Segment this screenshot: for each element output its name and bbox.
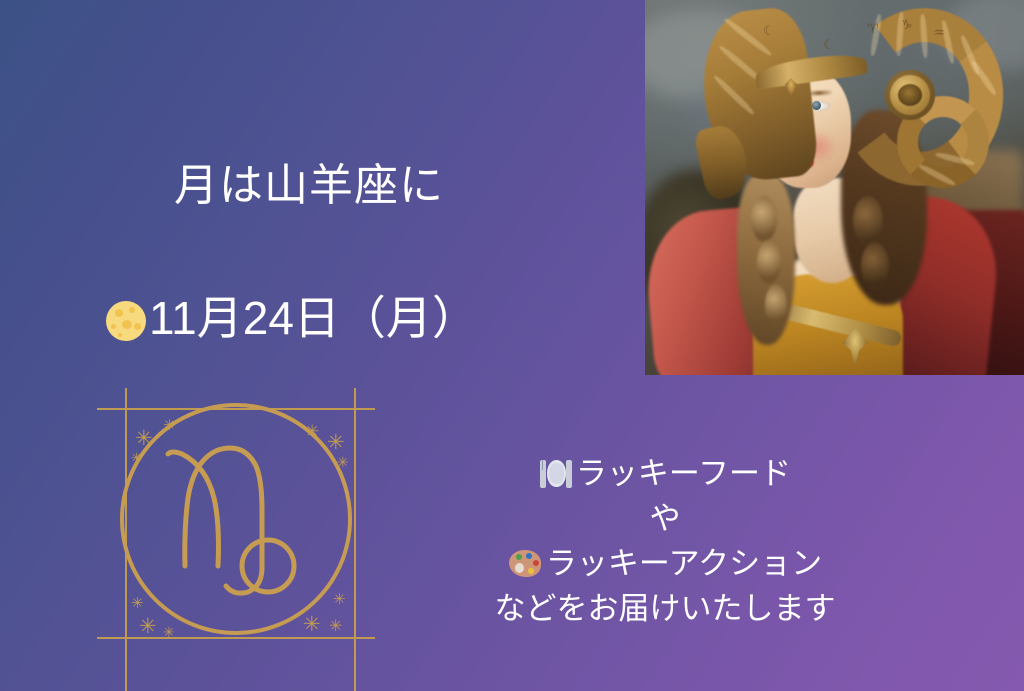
artwork-image: ☾ ☾ ♈ ♑ ♒	[645, 0, 1024, 375]
fork-shape	[540, 460, 546, 488]
painting-medallion	[885, 70, 935, 120]
poster-canvas: ☾ ☾ ♈ ♑ ♒ 月は山羊座に 11月24日（月） ✳ ✳ ✳ ✳ ✳ ✳ ✳	[0, 0, 1024, 691]
zodiac-emblem: ✳ ✳ ✳ ✳ ✳ ✳ ✳ ✳ ✳ ✳ ✳ ✳	[97, 388, 375, 691]
painting-hair-curl	[757, 240, 781, 284]
sparkle-icon: ✳	[163, 418, 176, 433]
painting-hair-curl	[751, 196, 777, 242]
lucky-conjunction: や	[455, 497, 875, 542]
painting-hair-curl	[765, 284, 787, 326]
capricorn-symbol-icon	[152, 436, 320, 604]
sparkle-icon: ✳	[337, 456, 349, 470]
lucky-food-row: ラッキーフード	[455, 452, 875, 497]
sparkle-icon: ✳	[329, 618, 342, 634]
sparkle-icon: ✳	[135, 428, 153, 449]
date-text: 11月24日（月）	[149, 291, 478, 346]
lucky-food-label: ラッキーフード	[576, 452, 791, 497]
date-line: 11月24日（月）	[103, 291, 478, 346]
emblem-frame-line-right	[354, 388, 356, 691]
knife-shape	[566, 460, 572, 488]
plate-with-cutlery-icon	[539, 458, 573, 490]
painting-hair-curl	[861, 242, 889, 290]
painting-iris-right	[812, 101, 821, 110]
lucky-action-label: ラッキーアクション	[546, 542, 822, 587]
lucky-closing-label: などをお届けいたします	[455, 587, 875, 632]
painting-horn-glyph: ☾	[763, 24, 775, 39]
sparkle-icon: ✳	[131, 452, 142, 465]
painting-horn-glyph: ♒	[933, 26, 945, 41]
lucky-info-block: ラッキーフード や ラッキーアクション などをお届けいたします	[455, 452, 875, 632]
dish-shape	[547, 460, 566, 487]
sparkle-icon: ✳	[327, 432, 345, 453]
painting-hair-curl	[853, 196, 883, 246]
sparkle-icon: ✳	[333, 592, 346, 607]
painting-horn-glyph: ♑	[901, 18, 913, 33]
sparkle-icon: ✳	[139, 616, 157, 637]
sparkle-icon: ✳	[163, 626, 175, 640]
sparkle-icon: ✳	[303, 614, 321, 635]
sparkle-icon: ✳	[131, 596, 144, 611]
painting-horn-glyph: ☾	[823, 38, 835, 53]
full-moon-icon	[103, 296, 149, 342]
artist-palette-icon	[508, 549, 542, 579]
page-title: 月は山羊座に	[174, 160, 444, 213]
painting-horn-glyph: ♈	[867, 22, 879, 37]
lucky-action-row: ラッキーアクション	[455, 542, 875, 587]
